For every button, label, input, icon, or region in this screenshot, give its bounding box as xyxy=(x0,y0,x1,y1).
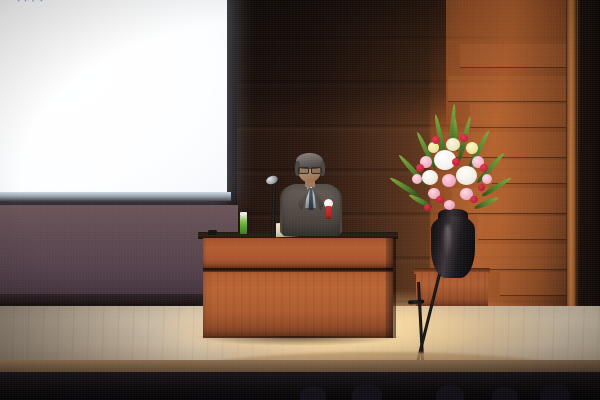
flower-vase xyxy=(431,216,475,278)
rosette-ribbon xyxy=(326,206,331,219)
audience-head xyxy=(436,385,464,400)
vase-highlight xyxy=(444,224,451,258)
speaker xyxy=(282,155,340,235)
bloom-pink xyxy=(412,174,422,184)
wall-panel-step xyxy=(460,44,568,68)
podium-upper-panel xyxy=(203,238,393,269)
bloom-cream xyxy=(446,138,460,151)
bloom-pink xyxy=(444,200,455,210)
audience-head xyxy=(300,386,326,400)
audience-head xyxy=(492,387,518,400)
bloom-red xyxy=(436,196,444,203)
bloom-red xyxy=(424,204,431,211)
podium xyxy=(203,232,393,338)
bloom-red xyxy=(416,164,424,172)
upper-wall-shadow xyxy=(236,0,446,130)
bloom-white xyxy=(422,170,438,185)
podium-lower-panel xyxy=(203,272,393,338)
bloom-red xyxy=(478,184,485,191)
glasses-right-lens xyxy=(311,167,322,174)
slide-text: ）（株） xyxy=(0,0,58,5)
podium-side-shadow xyxy=(386,238,396,338)
stage-photograph: ）（株） xyxy=(0,0,600,400)
bloom-red xyxy=(480,164,488,172)
bloom-pink xyxy=(442,174,456,187)
projection-screen: ）（株） xyxy=(0,0,227,199)
floral-arrangement xyxy=(398,112,508,297)
audience-head xyxy=(540,384,570,400)
green-tea-bottle xyxy=(240,215,247,234)
projection-screen-bottom-edge xyxy=(0,192,231,201)
bloom-red xyxy=(460,134,468,142)
audience-silhouette xyxy=(0,372,600,400)
podium-small-object xyxy=(208,230,217,235)
podium-floor-shadow xyxy=(195,336,403,346)
bloom-white xyxy=(456,166,477,185)
bloom-pink xyxy=(482,174,492,184)
glasses-icon xyxy=(298,167,321,173)
glasses-left-lens xyxy=(298,167,309,174)
projection-screen-frame: ）（株） xyxy=(0,0,237,209)
audience-head xyxy=(352,384,382,400)
projection-light-streak xyxy=(86,0,132,195)
bloom-red xyxy=(470,196,478,203)
bloom-red xyxy=(432,136,440,144)
wall-panel-step xyxy=(448,76,568,102)
bloom-red xyxy=(452,158,460,166)
bloom-yellow xyxy=(466,142,478,154)
